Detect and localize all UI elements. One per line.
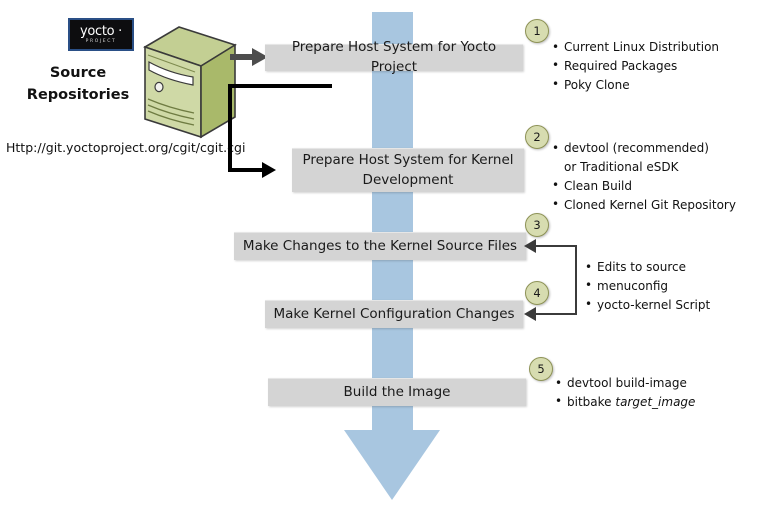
list-item: yocto-kernel Script (585, 296, 710, 315)
yocto-project-logo: yocto · PROJECT (68, 18, 134, 51)
list-item: Current Linux Distribution (552, 38, 719, 57)
server-tower-icon (133, 25, 237, 140)
list-item: menuconfig (585, 277, 710, 296)
bullet-list-step5: devtool build-image bitbake target_image (555, 374, 695, 412)
bitbake-target-arg: target_image (615, 395, 695, 409)
source-repository-url: Http://git.yoctoproject.org/cgit/cgit.cg… (6, 140, 245, 155)
connector-step3-horizontal (533, 245, 576, 247)
list-item: devtool build-image (555, 374, 695, 393)
bitbake-command-prefix: bitbake (567, 395, 615, 409)
source-label-line1: Source (14, 62, 142, 84)
list-item: Clean Build (552, 177, 736, 196)
step-badge-5: 5 (529, 357, 553, 381)
main-flow-arrow-head (344, 430, 440, 500)
process-box-step1[interactable]: Prepare Host System for Yocto Project (265, 44, 523, 71)
list-item: Cloned Kernel Git Repository (552, 196, 736, 215)
diagram-canvas: yocto · PROJECT Source Repositories Http… (0, 0, 769, 517)
logo-wordmark: yocto · (80, 25, 122, 38)
step-badge-2: 2 (525, 125, 549, 149)
step-badge-1: 1 (525, 19, 549, 43)
connector-step3-step4-vertical (575, 245, 577, 315)
connector-step4-horizontal (533, 313, 576, 315)
source-repositories-label: Source Repositories (14, 62, 142, 107)
process-box-step3[interactable]: Make Changes to the Kernel Source Files (234, 232, 526, 260)
process-box-step5[interactable]: Build the Image (268, 378, 526, 406)
list-item: devtool (recommended) or Traditional eSD… (552, 139, 719, 177)
connector-server-to-step2-segment-h2 (228, 168, 266, 172)
connector-step4-arrowhead (524, 307, 536, 321)
process-box-step2[interactable]: Prepare Host System for Kernel Developme… (292, 148, 524, 192)
step-badge-3: 3 (525, 213, 549, 237)
connector-server-to-step2-segment-v (228, 84, 232, 172)
list-item: Required Packages (552, 57, 719, 76)
source-label-line2: Repositories (14, 84, 142, 106)
connector-server-to-step2-segment-h1 (230, 84, 332, 88)
list-item: bitbake target_image (555, 393, 695, 412)
list-item: Poky Clone (552, 76, 719, 95)
bullet-list-step2: devtool (recommended) or Traditional eSD… (552, 139, 736, 215)
logo-subtext: PROJECT (86, 40, 117, 45)
bullet-list-step1: Current Linux Distribution Required Pack… (552, 38, 719, 95)
bullet-list-step3-step4: Edits to source menuconfig yocto-kernel … (585, 258, 710, 315)
process-box-step4[interactable]: Make Kernel Configuration Changes (265, 300, 523, 328)
list-item: Edits to source (585, 258, 710, 277)
connector-step3-arrowhead (524, 239, 536, 253)
step-badge-4: 4 (525, 281, 549, 305)
connector-server-to-step2-arrowhead (262, 162, 276, 178)
